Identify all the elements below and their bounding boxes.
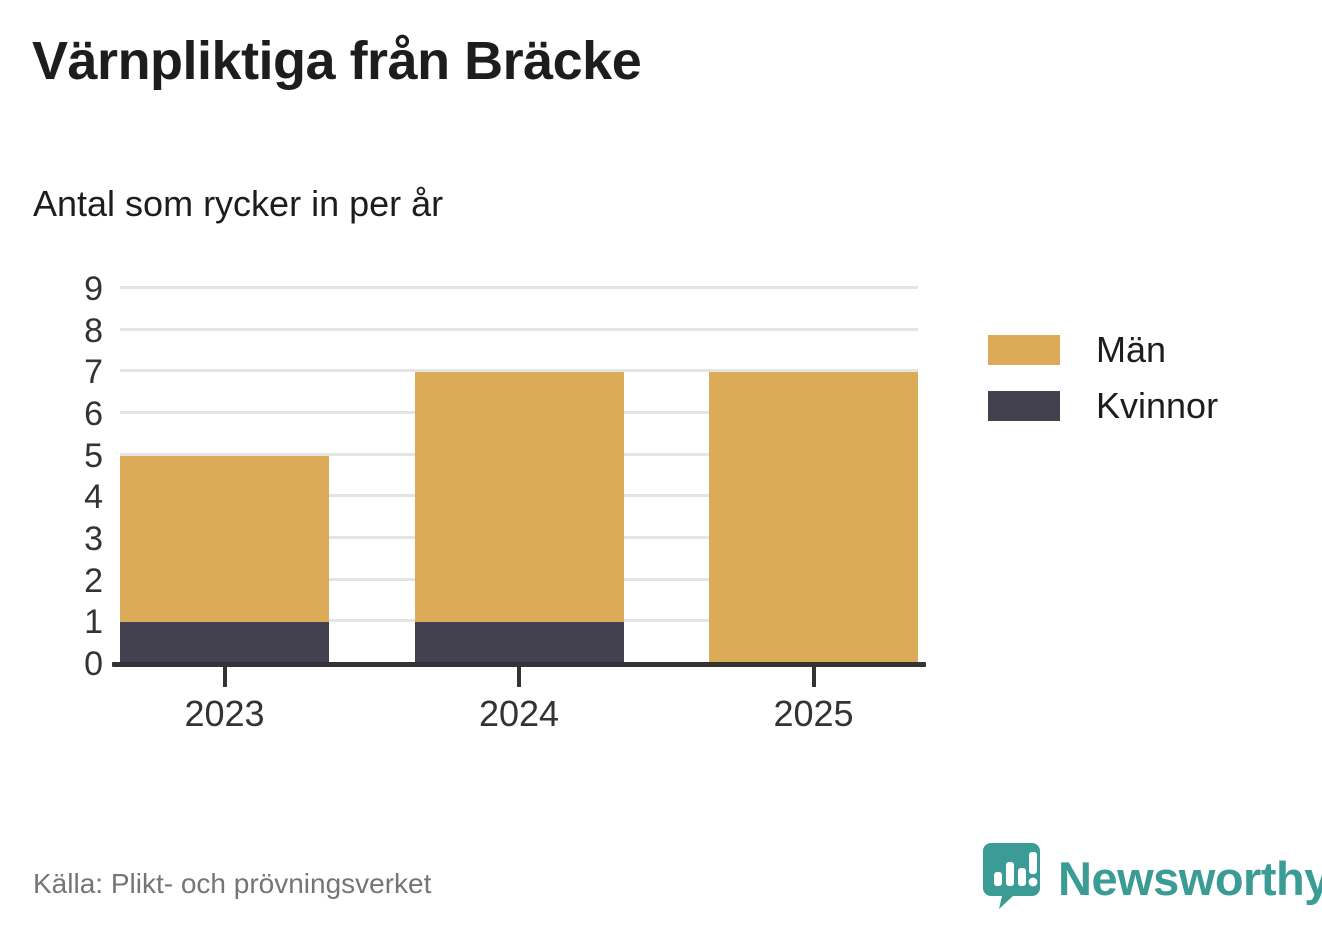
y-axis-tick-label: 8 bbox=[3, 314, 103, 348]
bar-group[interactable] bbox=[709, 289, 918, 664]
chart-legend: MänKvinnor bbox=[988, 322, 1218, 434]
legend-swatch bbox=[988, 335, 1060, 365]
y-axis-tick-labels: 0123456789 bbox=[0, 289, 103, 664]
y-axis-tick-label: 1 bbox=[3, 605, 103, 639]
page-title: Värnpliktiga från Bräcke bbox=[32, 30, 641, 92]
y-axis-tick-label: 2 bbox=[3, 564, 103, 598]
page-subtitle: Antal som rycker in per år bbox=[33, 183, 443, 225]
bar-group[interactable] bbox=[415, 289, 624, 664]
y-axis-tick-label: 3 bbox=[3, 522, 103, 556]
brand-name: Newsworthy bbox=[1058, 855, 1322, 902]
y-axis-tick-label: 4 bbox=[3, 480, 103, 514]
legend-item[interactable]: Män bbox=[988, 322, 1218, 378]
legend-swatch bbox=[988, 391, 1060, 421]
legend-label: Män bbox=[1096, 329, 1166, 371]
bar-segment[interactable] bbox=[415, 372, 624, 622]
bar-segment[interactable] bbox=[120, 456, 329, 623]
x-axis-tick-mark bbox=[517, 667, 521, 687]
y-axis-tick-label: 7 bbox=[3, 355, 103, 389]
chart-bubble-icon bbox=[983, 843, 1040, 914]
bar-group[interactable] bbox=[120, 289, 329, 664]
legend-label: Kvinnor bbox=[1096, 385, 1218, 427]
y-axis-tick-label: 9 bbox=[3, 272, 103, 306]
x-axis-tick-label: 2023 bbox=[125, 693, 325, 735]
y-axis-tick-label: 5 bbox=[3, 439, 103, 473]
x-axis-tick-mark bbox=[223, 667, 227, 687]
x-axis-tick-label: 2024 bbox=[419, 693, 619, 735]
legend-item[interactable]: Kvinnor bbox=[988, 378, 1218, 434]
y-axis-tick-label: 0 bbox=[3, 647, 103, 681]
x-axis-tick-mark bbox=[812, 667, 816, 687]
x-axis-tick-label: 2025 bbox=[714, 693, 914, 735]
source-note: Källa: Plikt- och prövningsverket bbox=[33, 868, 431, 900]
newsworthy-brand: Newsworthy bbox=[983, 843, 1322, 914]
y-axis-tick-label: 6 bbox=[3, 397, 103, 431]
chart-plot-region: 0123456789 202320242025 bbox=[0, 270, 940, 740]
plot-area bbox=[120, 289, 918, 664]
bar-segment[interactable] bbox=[120, 622, 329, 664]
bar-segment[interactable] bbox=[709, 372, 918, 664]
bar-segment[interactable] bbox=[415, 622, 624, 664]
